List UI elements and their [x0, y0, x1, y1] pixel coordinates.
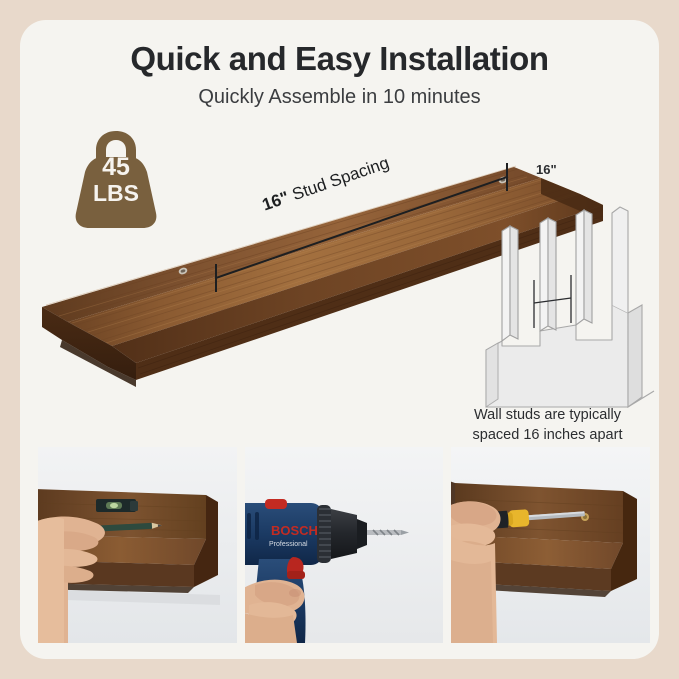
step-photo-drill: BOSCH Professional: [245, 447, 444, 643]
stud-diagram-caption: Wall studs are typically spaced 16 inche…: [440, 406, 655, 445]
stud-side: [548, 218, 556, 330]
spirit-level-icon: [96, 499, 138, 512]
page-subtitle: Quickly Assemble in 10 minutes: [20, 86, 659, 109]
stud-side: [584, 210, 592, 323]
page-title: Quick and Easy Installation: [20, 40, 659, 78]
infographic-root: Quick and Easy Installation Quickly Asse…: [0, 0, 679, 679]
stud: [502, 226, 510, 341]
drill-brand-sub: Professional: [269, 541, 308, 548]
caption-line-1: Wall studs are typically: [440, 406, 655, 426]
installation-steps: BOSCH Professional: [38, 447, 650, 643]
stud-diagram-dimension-label: 16": [536, 162, 557, 177]
step-photo-screw: [451, 447, 650, 643]
content-card: Quick and Easy Installation Quickly Asse…: [20, 20, 659, 659]
stud-side: [510, 226, 518, 339]
drill-brand-label: BOSCH: [271, 523, 318, 538]
step-photo-mark-level: [38, 447, 237, 643]
stud: [540, 218, 548, 331]
stud: [576, 210, 584, 325]
hand-illustration: [451, 501, 501, 643]
caption-line-2: spaced 16 inches apart: [440, 426, 655, 446]
wall-stud-diagram: [486, 207, 654, 407]
